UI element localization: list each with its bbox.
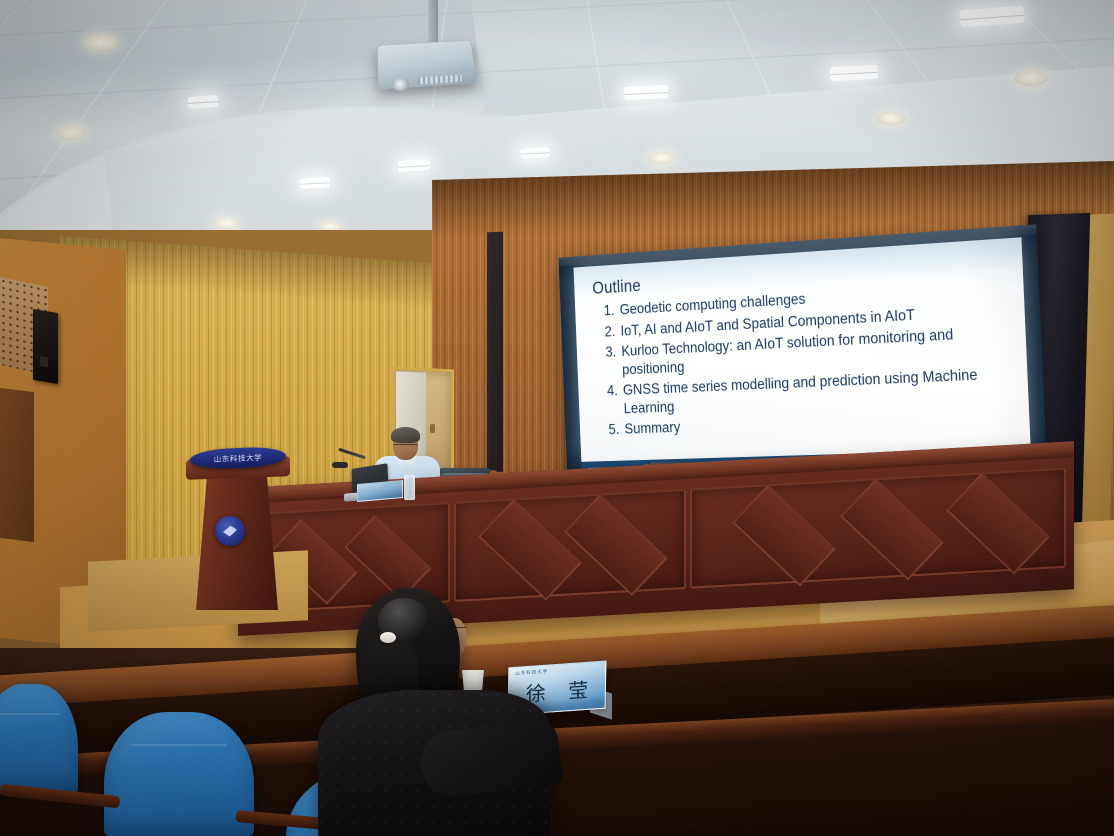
presenter-glasses-icon [393,444,418,450]
left-door-frame [0,388,34,542]
ceiling-troffer-light [300,177,330,189]
ceiling-troffer-light [188,95,219,109]
ceiling-downlight [84,34,118,51]
lecture-hall-photo: Outline Geodetic computing challenges Io… [0,0,1114,836]
seat-crease [131,744,227,746]
table-diamond-motif [732,485,836,587]
microphone-base [332,462,348,468]
table-diamond-motif [344,515,431,601]
ceiling-troffer-light [624,85,669,100]
ceiling-downlight [876,112,906,125]
audience-seat[interactable] [104,712,254,836]
slide-outline-list: Geodetic computing challenges IoT, AI an… [596,278,1016,443]
table-panel [690,468,1066,589]
table-diamond-motif [840,479,944,581]
water-bottle [404,474,415,500]
table-diamond-motif [946,473,1050,575]
ceiling-downlight [648,152,676,164]
curtain-left [487,232,503,473]
water-bottle-cap [405,470,414,475]
table-diamond-motif [478,499,582,601]
podium-banner-text: 山东科技大学 [214,451,263,464]
ceiling-troffer-light [398,159,431,172]
university-emblem-icon [215,516,245,546]
presenter-hair [391,427,420,443]
ceiling-downlight [1014,70,1048,86]
slide-title: Outline [592,276,641,298]
door-knob-icon[interactable] [430,424,435,433]
ceiling-downlight [56,126,86,140]
attendee-hair-tie [380,632,396,643]
presentation-slide: Outline Geodetic computing challenges Io… [574,237,1031,462]
wall-speaker [33,309,58,384]
ceiling-downlight [214,218,240,229]
seat-crease [0,713,61,715]
table-panel [454,489,686,602]
ceiling-troffer-light [830,65,879,81]
ceiling-troffer-light [520,147,550,159]
table-diamond-motif [564,494,668,596]
projector-mount [428,0,438,42]
nameplate-university-text: 山东科技大学 [515,669,548,677]
